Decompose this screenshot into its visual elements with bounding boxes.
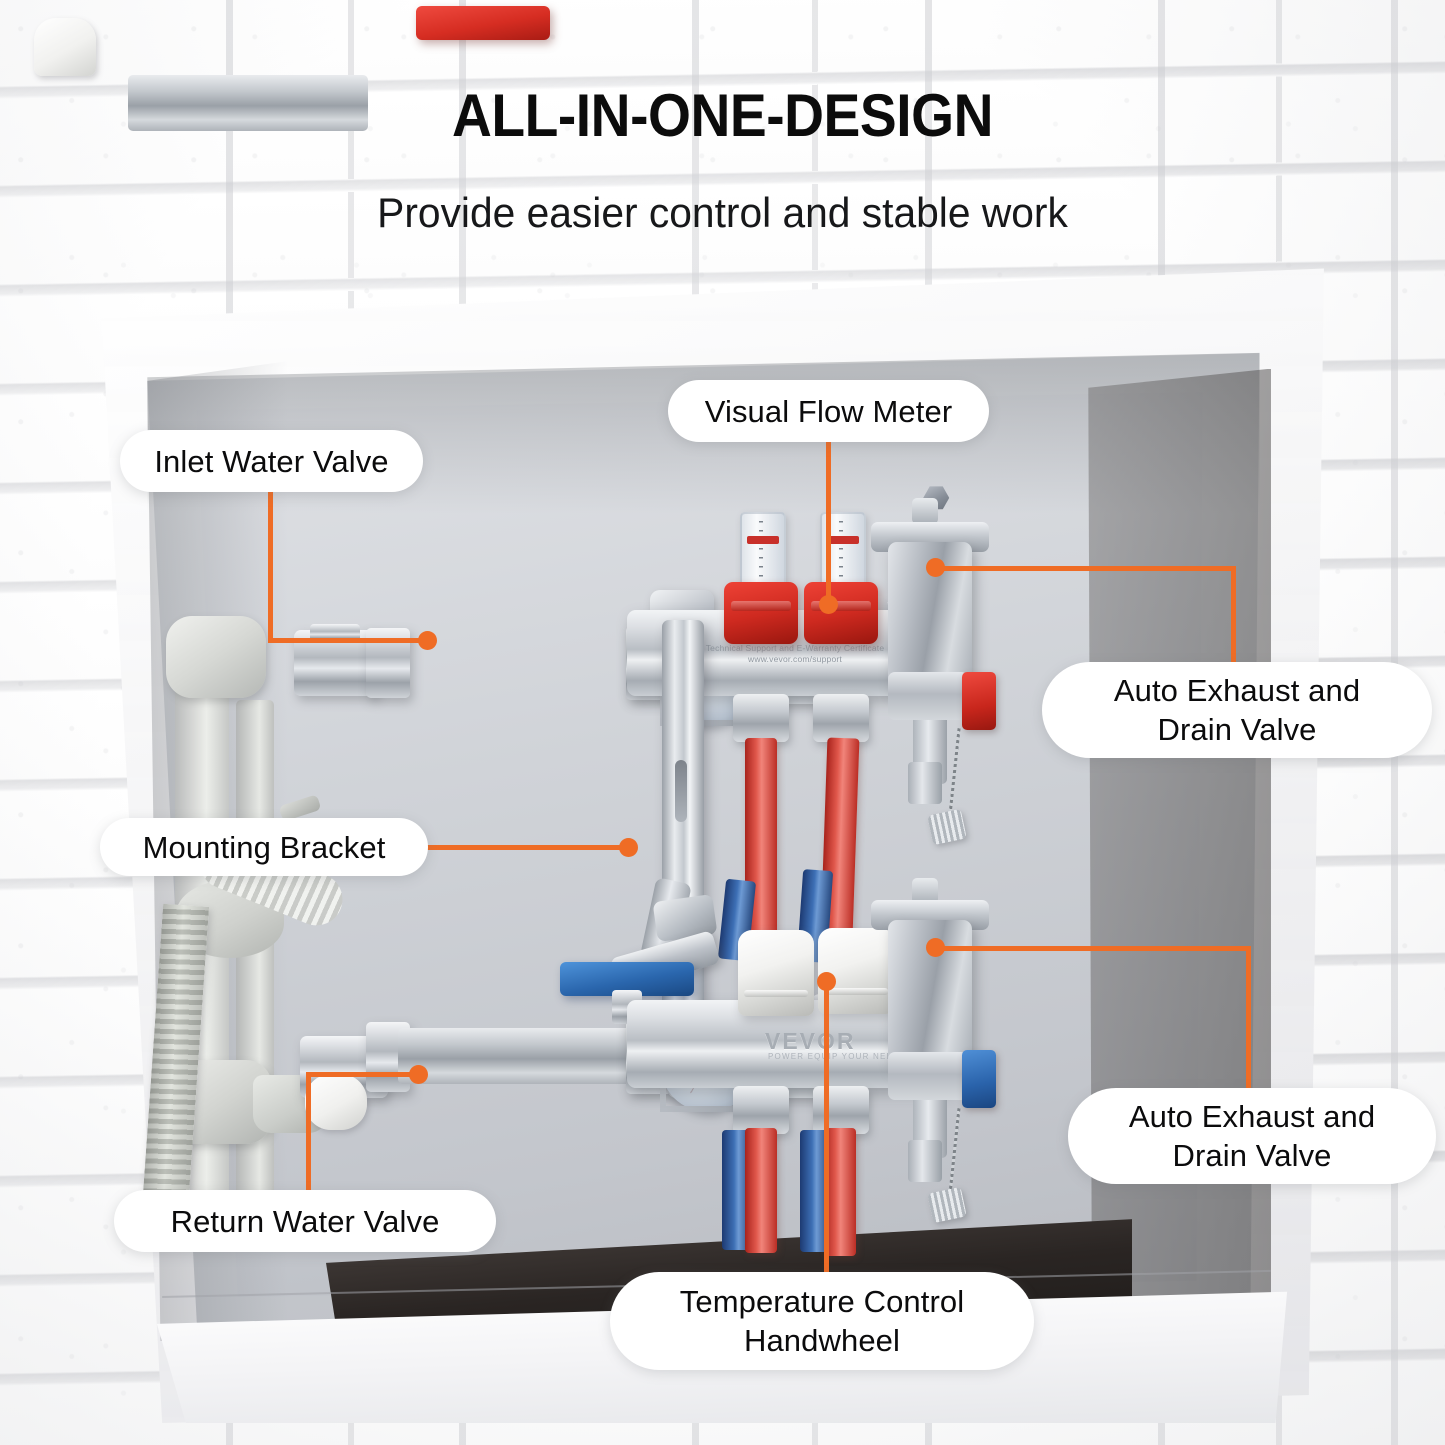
inlet-ball-valve-handle-red[interactable] bbox=[416, 6, 550, 40]
pipe-insulation-cap-top bbox=[166, 616, 266, 698]
anchor-dot-auto-exhaust-upper bbox=[926, 558, 945, 577]
manifold-body-text: Technical Support and E-Warranty Certifi… bbox=[700, 643, 890, 665]
anchor-dot-mounting-bracket bbox=[619, 838, 638, 857]
infographic-canvas: ALL-IN-ONE-DESIGN Provide easier control… bbox=[0, 0, 1445, 1445]
callout-label-line2: Handwheel bbox=[744, 1321, 900, 1360]
anchor-dot-return-water-valve bbox=[409, 1065, 428, 1084]
manifold-outlet-nut-l1 bbox=[733, 1086, 789, 1134]
drain-hose-barb-upper bbox=[908, 762, 942, 804]
inlet-valve-white-cap bbox=[34, 18, 96, 76]
callout-temperature-control-handwheel[interactable]: Temperature Control Handwheel bbox=[610, 1272, 1034, 1370]
drain-valve-body-upper bbox=[888, 672, 968, 720]
brand-tagline: POWER EQUIP YOUR NEEDS bbox=[768, 1052, 907, 1061]
callout-return-water-valve[interactable]: Return Water Valve bbox=[114, 1190, 496, 1252]
page-subtitle: Provide easier control and stable work bbox=[22, 192, 1424, 234]
manifold-outlet-nut-u2 bbox=[813, 694, 869, 742]
callout-label: Visual Flow Meter bbox=[705, 392, 953, 431]
brand-logo: VEVOR bbox=[765, 1028, 856, 1055]
drain-hose-barb-lower bbox=[908, 1140, 942, 1182]
callout-mounting-bracket[interactable]: Mounting Bracket bbox=[100, 818, 428, 876]
callout-auto-exhaust-upper[interactable]: Auto Exhaust and Drain Valve bbox=[1042, 662, 1432, 758]
callout-label-line2: Drain Valve bbox=[1157, 710, 1316, 749]
flow-meter-red-cap-1[interactable] bbox=[724, 582, 798, 644]
air-vent-nipple-upper bbox=[912, 498, 938, 524]
anchor-dot-auto-exhaust-lower bbox=[926, 938, 945, 957]
pex-pipe-red-l1 bbox=[745, 1128, 777, 1253]
inlet-supply-pipe bbox=[128, 75, 368, 131]
callout-label: Mounting Bracket bbox=[143, 828, 386, 867]
callout-label-line1: Auto Exhaust and bbox=[1114, 671, 1360, 710]
anchor-dot-temperature-control bbox=[817, 972, 836, 991]
manifold-outlet-nut-l2 bbox=[813, 1086, 869, 1134]
manifold-outlet-nut-u1 bbox=[733, 694, 789, 742]
return-pipe bbox=[398, 1028, 638, 1084]
temperature-control-handwheel-2[interactable] bbox=[818, 928, 894, 1014]
anchor-dot-inlet-water-valve bbox=[418, 631, 437, 650]
temperature-control-handwheel-1[interactable] bbox=[738, 930, 814, 1016]
callout-auto-exhaust-lower[interactable]: Auto Exhaust and Drain Valve bbox=[1068, 1088, 1436, 1184]
callout-label-line1: Auto Exhaust and bbox=[1129, 1097, 1375, 1136]
flow-meter-red-cap-2[interactable] bbox=[804, 582, 878, 644]
drain-valve-lever-lower-blue[interactable] bbox=[962, 1050, 996, 1108]
callout-inlet-water-valve[interactable]: Inlet Water Valve bbox=[120, 430, 423, 492]
callout-label: Return Water Valve bbox=[171, 1202, 440, 1241]
callout-label-line2: Drain Valve bbox=[1172, 1136, 1331, 1175]
return-valve-white-cap bbox=[305, 1074, 367, 1130]
callout-visual-flow-meter[interactable]: Visual Flow Meter bbox=[668, 380, 989, 442]
drain-valve-body-lower bbox=[888, 1052, 968, 1100]
anchor-dot-visual-flow-meter bbox=[819, 595, 838, 614]
mounting-bracket-slot bbox=[675, 760, 687, 822]
callout-label: Inlet Water Valve bbox=[154, 442, 388, 481]
drain-valve-lever-upper-red[interactable] bbox=[962, 672, 996, 730]
callout-label-line1: Temperature Control bbox=[680, 1282, 964, 1321]
